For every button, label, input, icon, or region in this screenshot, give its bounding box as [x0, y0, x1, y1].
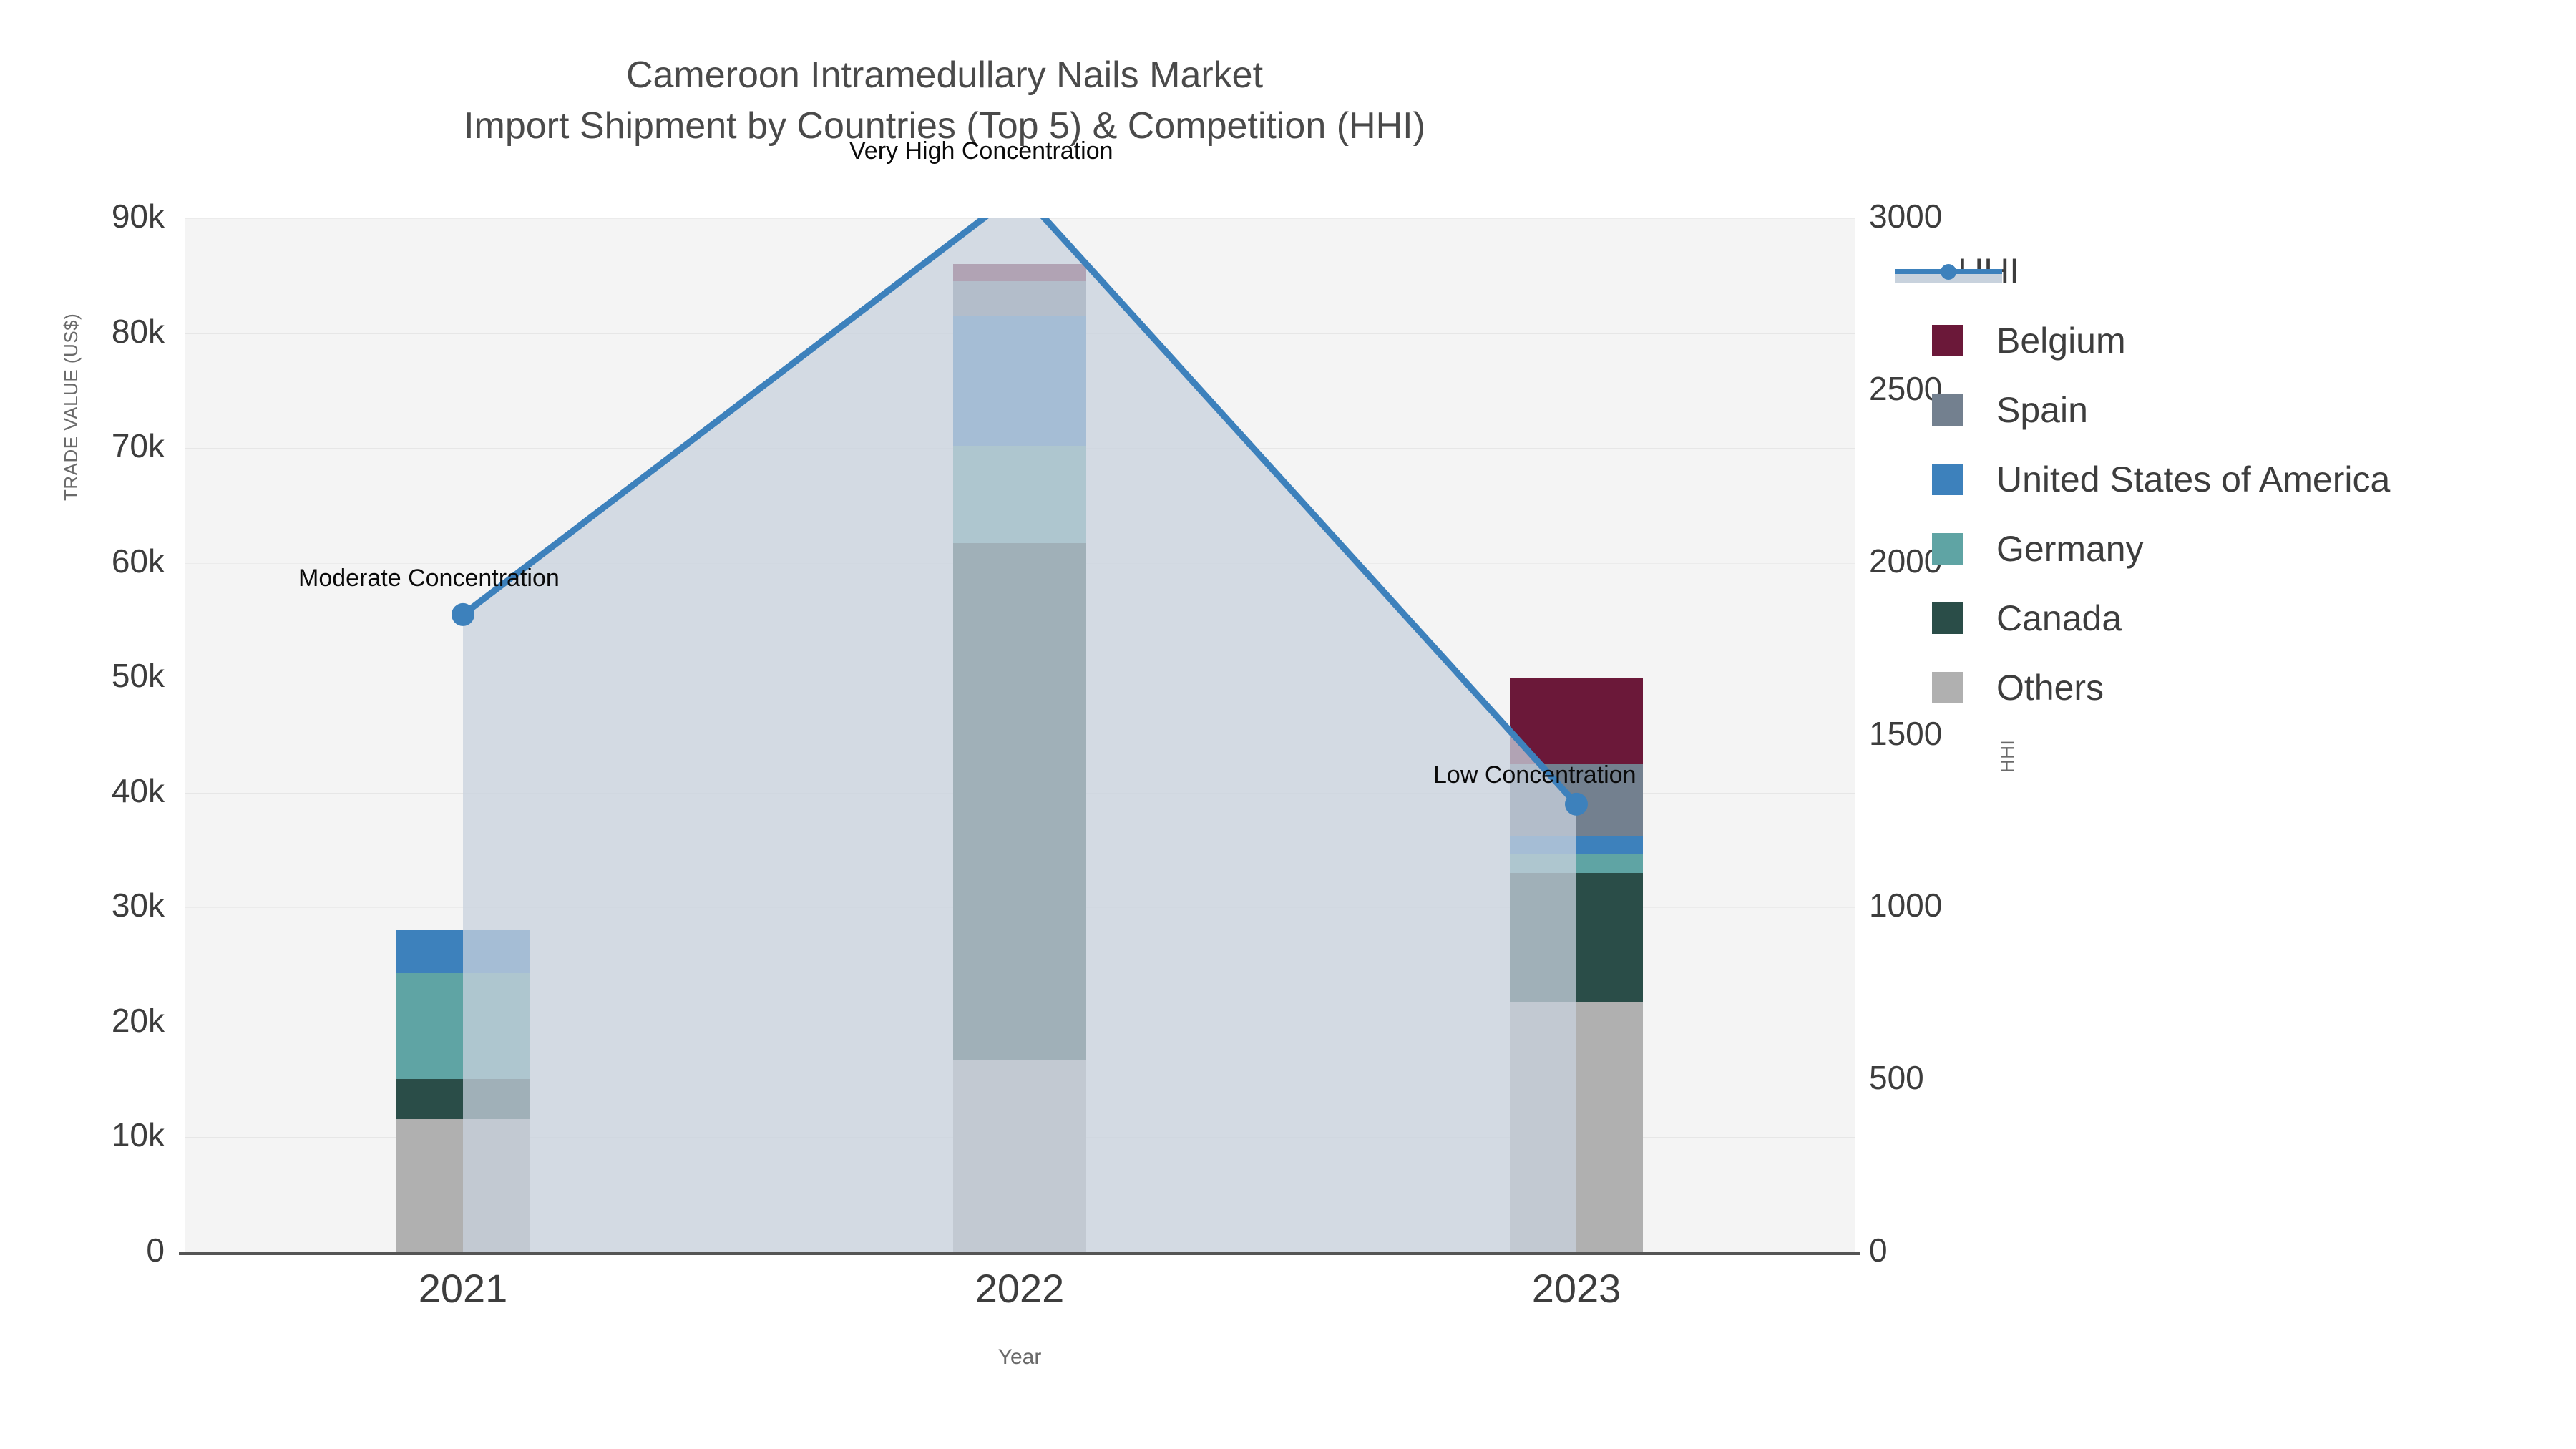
legend-item[interactable]: Spain: [1932, 375, 2562, 444]
hhi-area-fill: [463, 218, 1576, 1252]
chart-canvas: Cameroon Intramedullary Nails Market Imp…: [0, 0, 2576, 1449]
hhi-line-overlay: [185, 218, 1855, 1252]
y-axis-right-tick-label: 0: [1869, 1231, 2055, 1269]
legend-item-label: Belgium: [1996, 320, 2126, 361]
legend-item-label: Spain: [1996, 389, 2088, 431]
legend-item[interactable]: Canada: [1932, 583, 2562, 653]
legend-item[interactable]: HHI: [1932, 236, 2562, 306]
y-axis-left-tick-label: 90k: [0, 197, 165, 235]
legend-item-label: Canada: [1996, 597, 2122, 639]
legend-color-swatch: [1932, 602, 1963, 634]
hhi-data-point: [452, 603, 474, 626]
y-axis-left-tick-label: 30k: [0, 886, 165, 924]
legend-item[interactable]: Belgium: [1932, 306, 2562, 375]
y-axis-left-tick-label: 50k: [0, 656, 165, 695]
legend-item[interactable]: Germany: [1932, 514, 2562, 583]
legend-item-label: Others: [1996, 667, 2104, 708]
concentration-annotation: Very High Concentration: [849, 137, 1113, 165]
y-axis-left-tick-label: 0: [0, 1231, 165, 1269]
legend-color-swatch: [1932, 464, 1963, 495]
x-axis-tick-label: 2022: [877, 1265, 1163, 1312]
legend-dot: [1941, 264, 1956, 280]
legend-color-swatch: [1932, 325, 1963, 356]
concentration-annotation: Low Concentration: [1433, 761, 1636, 789]
legend-item-label: Germany: [1996, 528, 2144, 570]
legend-color-swatch: [1932, 672, 1963, 703]
legend: HHIBelgiumSpainUnited States of AmericaG…: [1932, 236, 2562, 722]
legend-item-label: United States of America: [1996, 459, 2390, 500]
y-axis-left-tick-label: 10k: [0, 1116, 165, 1154]
y-axis-left-tick-label: 80k: [0, 312, 165, 351]
legend-line-marker-icon: [1895, 257, 2002, 286]
legend-color-swatch: [1932, 533, 1963, 565]
hhi-data-point: [1565, 793, 1588, 816]
y-axis-left-tick-label: 20k: [0, 1001, 165, 1040]
y-axis-right-tick-label: 1000: [1869, 886, 2055, 924]
y-axis-left-tick-label: 60k: [0, 542, 165, 580]
chart-title-line-1: Cameroon Intramedullary Nails Market: [0, 50, 1889, 101]
y-axis-right-tick-label: 500: [1869, 1058, 2055, 1097]
chart-title: Cameroon Intramedullary Nails Market Imp…: [0, 50, 1889, 151]
y-axis-right-tick-label: 3000: [1869, 197, 2055, 235]
x-axis-tick-label: 2021: [320, 1265, 606, 1312]
x-axis-line: [179, 1252, 1860, 1255]
y-axis-left-tick-label: 40k: [0, 771, 165, 810]
concentration-annotation: Moderate Concentration: [298, 565, 560, 592]
legend-item[interactable]: Others: [1932, 653, 2562, 722]
x-axis-title: Year: [0, 1345, 2039, 1370]
y-axis-left-tick-label: 70k: [0, 426, 165, 465]
legend-color-swatch: [1932, 394, 1963, 426]
plot-area: [185, 218, 1855, 1252]
x-axis-tick-label: 2023: [1433, 1265, 1719, 1312]
legend-item[interactable]: United States of America: [1932, 444, 2562, 514]
